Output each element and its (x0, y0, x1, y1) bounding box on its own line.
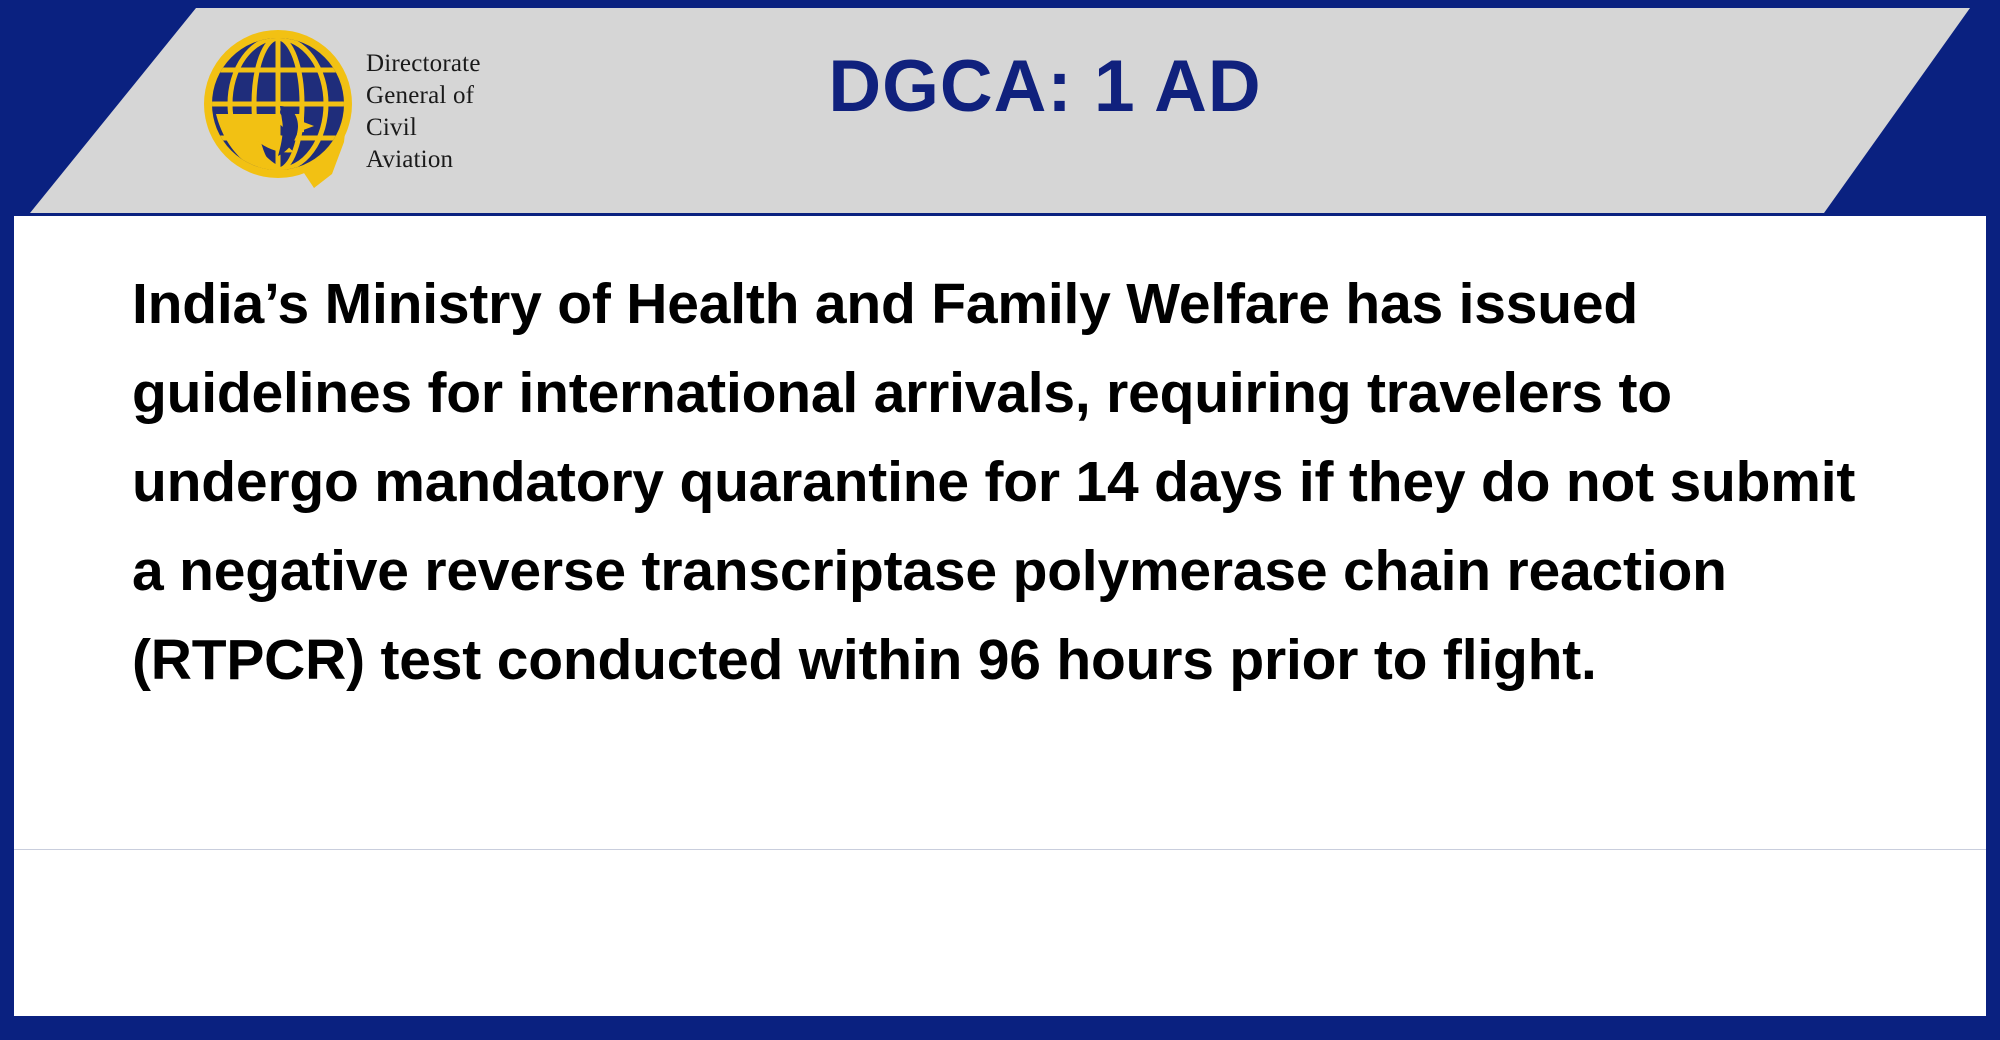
content-divider (14, 849, 1986, 850)
content-card: India’s Ministry of Health and Family We… (14, 216, 1986, 1016)
dgca-globe-logo-icon (198, 22, 363, 192)
slide-title: DGCA: 1 AD (520, 50, 1570, 123)
logo-wordmark-line-2: General of (366, 80, 506, 112)
logo-wordmark-line-3: Civil (366, 112, 506, 144)
presentation-slide: Directorate General of Civil Aviation DG… (0, 0, 2000, 1040)
body-paragraph: India’s Ministry of Health and Family We… (132, 260, 1892, 705)
logo-wordmark-line-1: Directorate (366, 48, 506, 80)
logo-wordmark: Directorate General of Civil Aviation (366, 48, 506, 176)
logo-wordmark-line-4: Aviation (366, 144, 506, 176)
